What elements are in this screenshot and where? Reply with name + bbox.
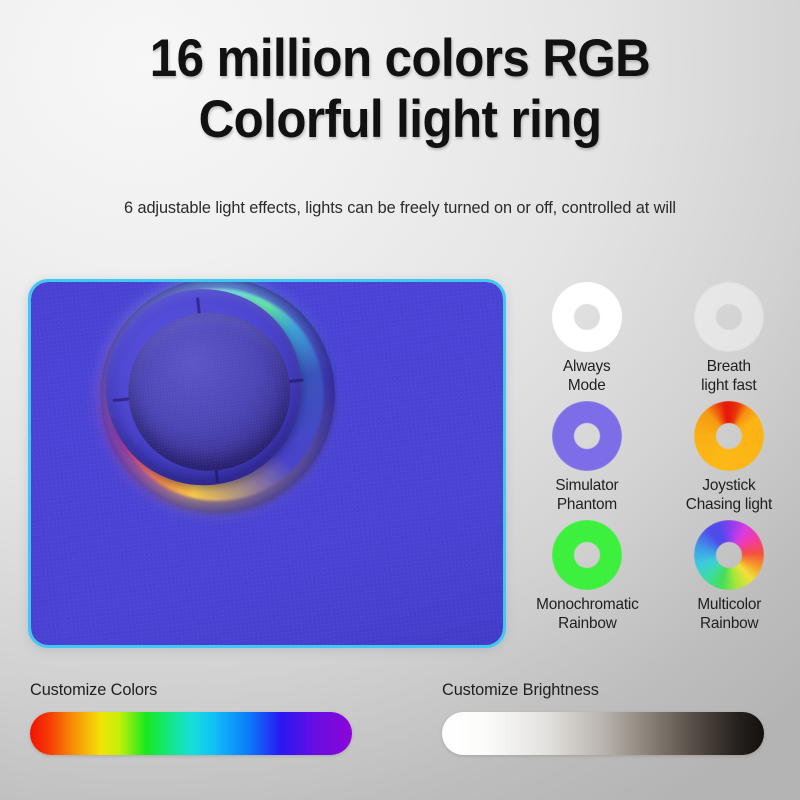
color-slider[interactable] [30,712,352,755]
label-line-1: Multicolor [697,596,761,615]
customize-colors-group: Customize Colors [30,680,352,755]
light-effect-label: Monochromatic Rainbow [536,596,639,633]
page-title: 16 million colors RGB Colorful light rin… [28,28,772,151]
ring-icon-always-mode [552,282,622,352]
light-effect-monochromatic-rainbow[interactable]: Monochromatic Rainbow [516,520,658,633]
label-line-1: Breath [701,358,756,377]
label-line-2: Rainbow [536,615,639,634]
label-line-1: Simulator [555,477,618,496]
ring-icon-multicolor-rainbow [694,520,764,590]
light-effect-label: Joystick Chasing light [686,477,772,514]
light-effect-breath-light-fast[interactable]: Breath light fast [658,282,800,395]
label-line-2: Rainbow [697,615,761,634]
light-effect-simulator-phantom[interactable]: Simulator Phantom [516,401,658,514]
product-photo-panel: SELECT S [28,279,506,648]
ring-icon-joystick-chasing-light [694,401,764,471]
ring-icon-monochromatic-rainbow [552,520,622,590]
light-effect-label: Breath light fast [701,358,756,395]
light-effect-label: Multicolor Rainbow [697,596,761,633]
label-line-2: light fast [701,377,756,396]
ring-icon-breath-light-fast [694,282,764,352]
gamepad-body: SELECT S [31,282,503,645]
light-effect-multicolor-rainbow[interactable]: Multicolor Rainbow [658,520,800,633]
joystick-assembly [89,282,347,524]
customize-brightness-group: Customize Brightness [442,680,764,755]
customize-brightness-title: Customize Brightness [442,680,751,700]
customize-colors-title: Customize Colors [30,680,339,700]
headline-line-2: Colorful light ring [28,89,772,150]
joystick-thumb-cap [120,304,298,479]
light-effect-label: Simulator Phantom [555,477,618,514]
label-line-1: Always [563,358,611,377]
light-effect-always-mode[interactable]: Always Mode [516,282,658,395]
label-line-2: Mode [563,377,611,396]
label-line-2: Phantom [555,496,618,515]
label-line-1: Monochromatic [536,596,639,615]
label-line-2: Chasing light [686,496,772,515]
brightness-slider[interactable] [442,712,764,755]
light-effect-grid: Always Mode Breath light fast Simulator … [516,282,800,633]
promo-banner: 16 million colors RGB Colorful light rin… [0,0,800,800]
label-line-1: Joystick [686,477,772,496]
product-photo-image: SELECT S [31,282,503,645]
ring-icon-simulator-phantom [552,401,622,471]
joystick-cap-texture [120,304,298,479]
light-effect-joystick-chasing-light[interactable]: Joystick Chasing light [658,401,800,514]
page-subtitle: 6 adjustable light effects, lights can b… [16,198,784,218]
light-effect-label: Always Mode [563,358,611,395]
headline-line-1: 16 million colors RGB [28,28,772,89]
